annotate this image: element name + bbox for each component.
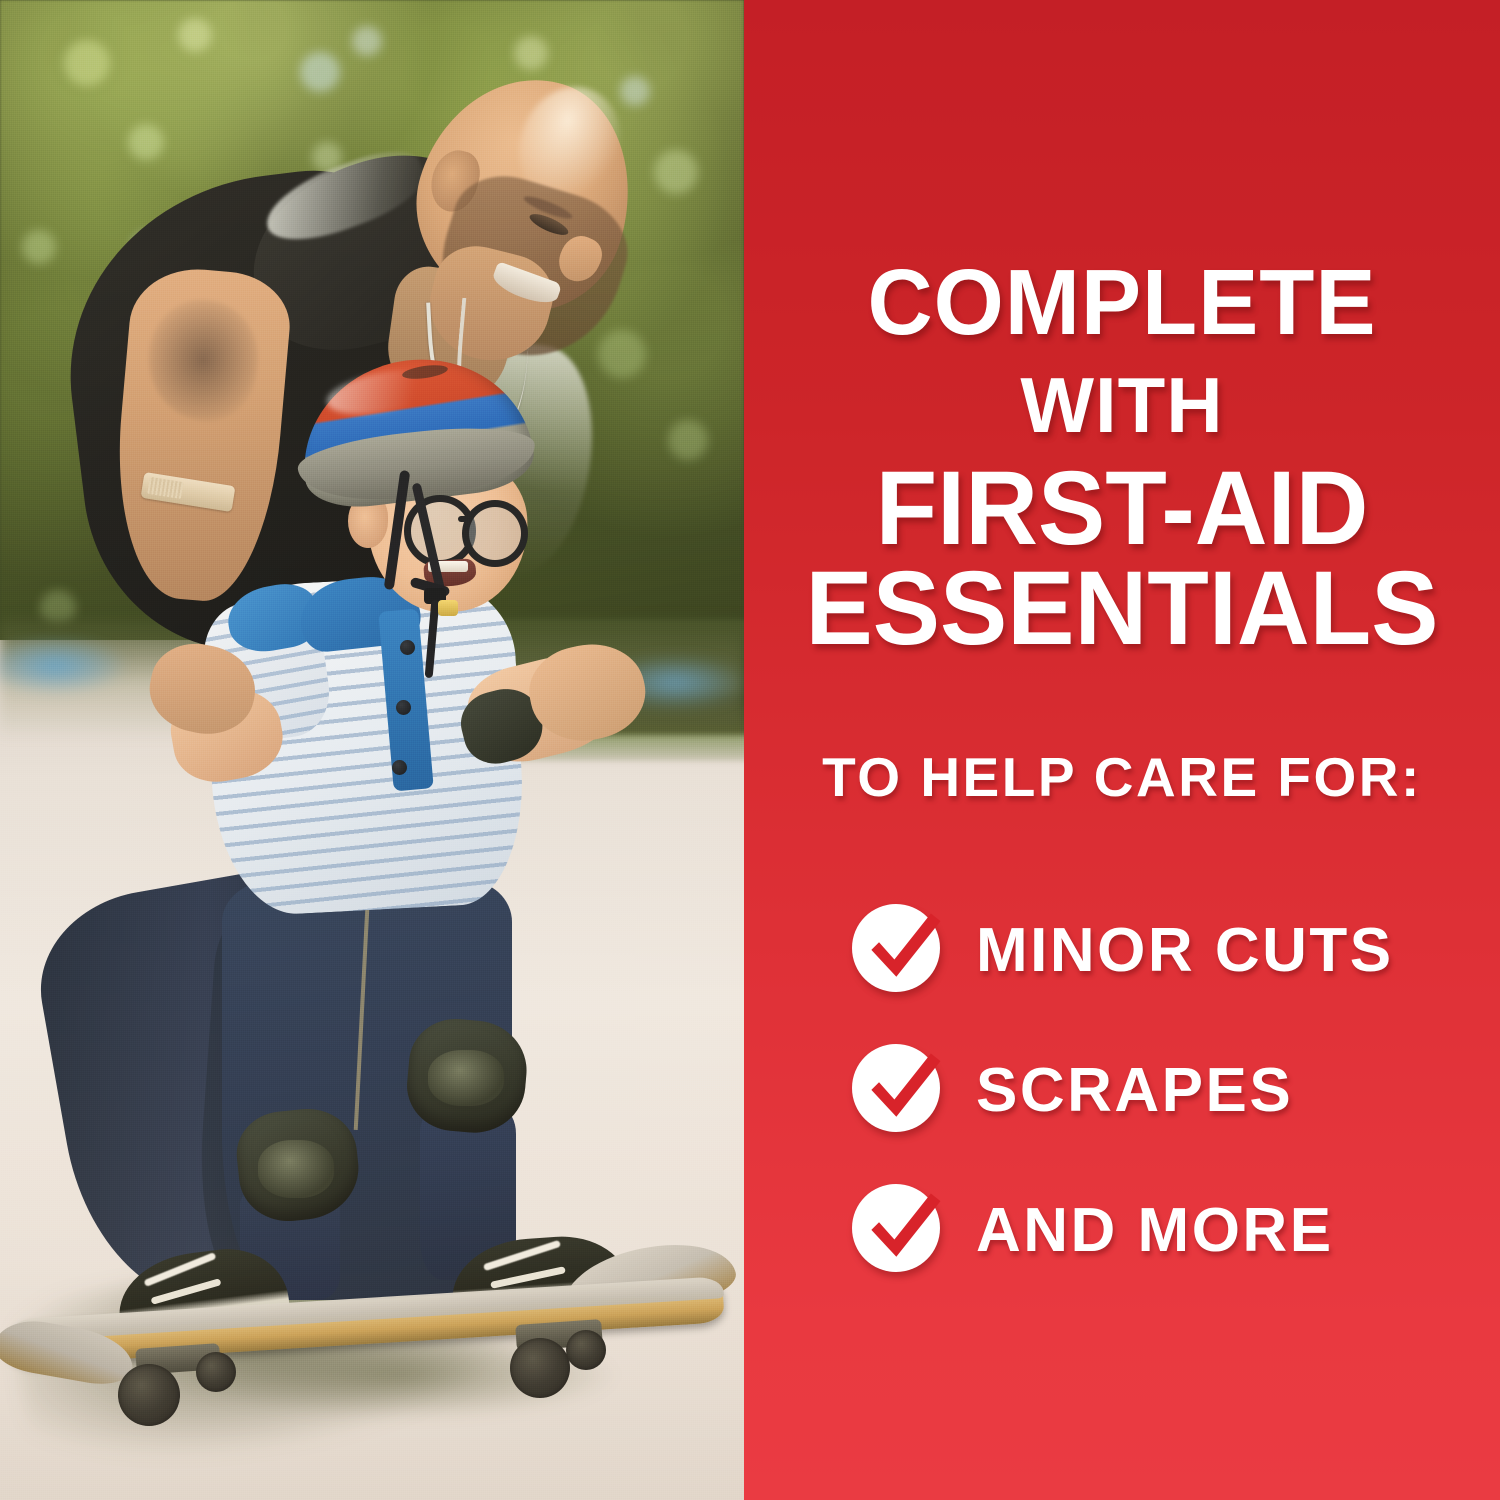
bokeh-dot (64, 40, 110, 86)
headline-line-first-aid: FIRST-AID (759, 456, 1485, 561)
check-circle-icon (852, 1184, 944, 1276)
shirt-button (392, 760, 407, 775)
list-item-label: MINOR CUTS (976, 915, 1394, 986)
bokeh-dot (178, 18, 212, 52)
eyeglasses-lens (462, 500, 528, 567)
bokeh-dot (22, 230, 56, 264)
list-item: AND MORE (852, 1160, 1500, 1300)
product-lifestyle-banner: COMPLETE WITH FIRST-AID ESSENTIALS TO HE… (0, 0, 1500, 1500)
skateboard-wheel (566, 1330, 606, 1370)
subheading: TO HELP CARE FOR: (744, 745, 1500, 809)
shirt-button (400, 640, 415, 655)
bokeh-dot (598, 330, 646, 378)
bokeh-dot (620, 76, 650, 106)
list-item: MINOR CUTS (852, 880, 1500, 1020)
headline-line-with: WITH (744, 366, 1500, 444)
bokeh-dot (128, 124, 164, 160)
bokeh-dot (668, 420, 708, 460)
bokeh-dot (514, 36, 548, 70)
check-circle-icon (852, 1044, 944, 1136)
benefits-list: MINOR CUTS SCRAPES AND MOR (852, 880, 1500, 1300)
blue-background-blur (0, 636, 130, 696)
red-marketing-panel: COMPLETE WITH FIRST-AID ESSENTIALS TO HE… (744, 0, 1500, 1500)
bokeh-dot (654, 150, 698, 194)
check-circle-icon (852, 904, 944, 996)
lifestyle-photo (0, 0, 744, 1500)
bokeh-dot (300, 52, 340, 92)
bandage-pad (147, 477, 183, 499)
list-item-label: AND MORE (976, 1195, 1334, 1266)
headline-line-complete: COMPLETE (755, 256, 1488, 349)
knee-pad-cap (428, 1050, 504, 1106)
list-item-label: SCRAPES (976, 1055, 1293, 1126)
headline-line-essentials: ESSENTIALS (759, 556, 1485, 661)
skateboard-wheel (118, 1364, 180, 1426)
checkmark-icon (856, 900, 952, 996)
skateboard-wheel (196, 1352, 236, 1392)
shirt-button (396, 700, 411, 715)
checkmark-icon (856, 1040, 952, 1136)
eyeglasses-bridge (458, 516, 472, 522)
knee-pad-cap (258, 1140, 334, 1198)
bokeh-dot (352, 26, 382, 56)
helmet-strap-clip (438, 600, 458, 616)
list-item: SCRAPES (852, 1020, 1500, 1160)
skateboard-wheel (510, 1338, 570, 1398)
checkmark-icon (856, 1180, 952, 1276)
